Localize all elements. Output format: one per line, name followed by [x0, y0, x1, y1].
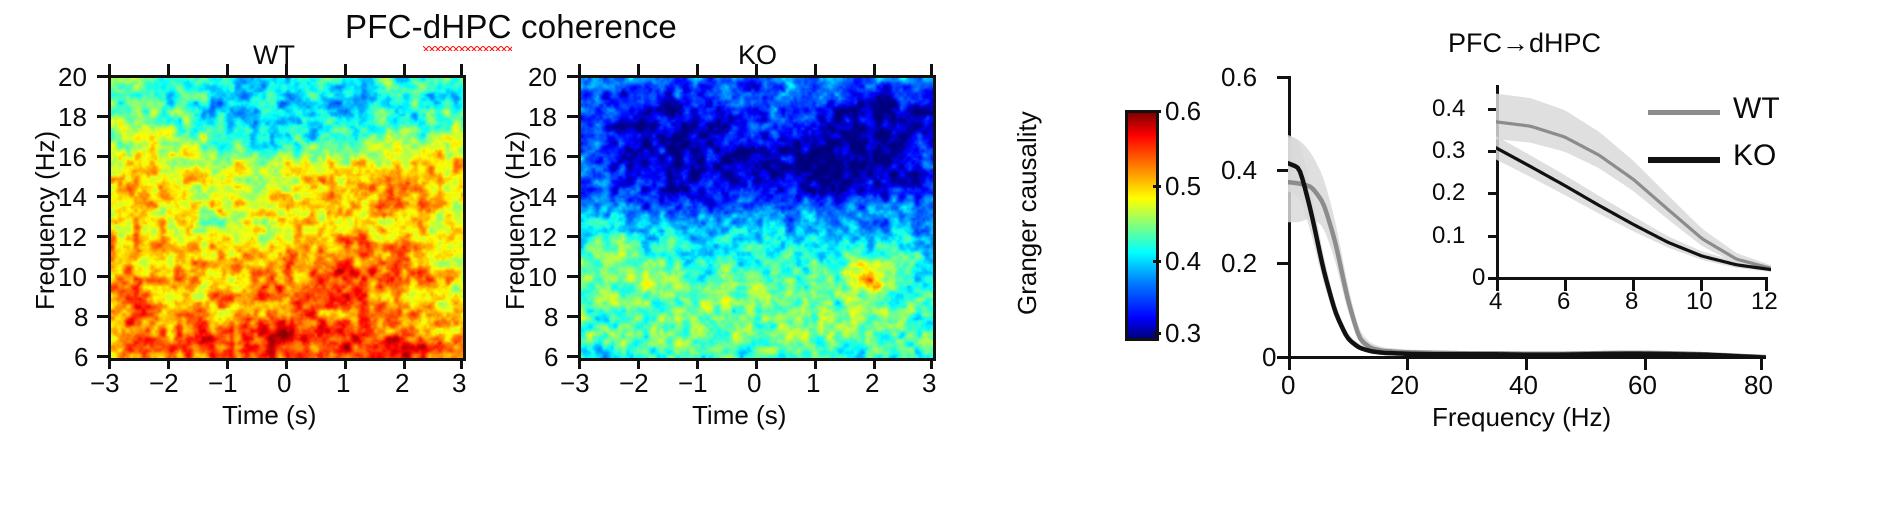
wt-ytick-mark-20 — [97, 75, 108, 78]
wt-ytick-mark-16 — [97, 155, 108, 158]
granger-xtick-0: 0 — [1281, 370, 1295, 401]
legend-swatch-ko — [1648, 157, 1720, 163]
inset-ytick-04: 0.4 — [1432, 95, 1465, 123]
ko-ytick-16: 16 — [528, 142, 557, 173]
wt-xtick-top-3 — [226, 64, 229, 75]
granger-ytick-0: 0 — [1262, 342, 1276, 373]
wt-xtick-top-2 — [167, 64, 170, 75]
figure-title-part2: coherence — [512, 8, 677, 45]
wt-ytick-mark-10 — [97, 275, 108, 278]
inset-ytick-mark-0 — [1488, 277, 1496, 280]
wt-ytick-8: 8 — [74, 302, 88, 333]
ko-heatmap-canvas — [581, 78, 933, 358]
legend-swatch-wt — [1648, 110, 1720, 115]
ko-xtick-neg1: −1 — [678, 368, 708, 399]
inset-ytick-mark-01 — [1488, 235, 1496, 238]
wt-coherence-heatmap — [108, 75, 466, 361]
ko-y-axis-label: Frequency (Hz) — [500, 131, 531, 310]
granger-xtick-60: 60 — [1628, 370, 1657, 401]
ko-ytick-mark-10 — [567, 275, 578, 278]
granger-ytick-04: 0.4 — [1221, 155, 1257, 186]
ko-ytick-12: 12 — [528, 222, 557, 253]
ko-xtick-top-1 — [578, 64, 581, 75]
granger-x-axis-label: Frequency (Hz) — [1432, 402, 1611, 433]
wt-xtick-top-7 — [460, 64, 463, 75]
granger-xtick-mark-80 — [1760, 359, 1763, 370]
colorbar-tick-03 — [1153, 332, 1161, 335]
ko-xtick-top-4 — [755, 64, 758, 75]
figure-title-part1: PFC- — [345, 8, 423, 45]
ko-ytick-6: 6 — [544, 342, 558, 373]
ko-ytick-mark-6 — [567, 355, 578, 358]
wt-ytick-mark-18 — [97, 115, 108, 118]
wt-heatmap-canvas — [111, 78, 463, 358]
wt-ytick-16: 16 — [58, 142, 87, 173]
wt-panel-title: WT — [253, 40, 295, 71]
inset-xtick-12: 12 — [1751, 288, 1778, 316]
ko-ytick-mark-16 — [567, 155, 578, 158]
granger-ytick-mark-06 — [1277, 76, 1288, 79]
ko-ytick-10: 10 — [528, 262, 557, 293]
wt-y-axis-label: Frequency (Hz) — [30, 131, 61, 310]
inset-curves — [1496, 85, 1771, 280]
wt-ytick-18: 18 — [58, 102, 87, 133]
wt-xtick-top-5 — [344, 64, 347, 75]
wt-ytick-mark-12 — [97, 235, 108, 238]
ko-xtick-top-2 — [637, 64, 640, 75]
figure-title: PFC-dHPC coherence — [345, 8, 677, 46]
wt-ytick-mark-8 — [97, 315, 108, 318]
granger-xtick-mark-40 — [1525, 359, 1528, 370]
wt-xtick-neg2: −2 — [149, 368, 179, 399]
colorbar-label-03: 0.3 — [1165, 318, 1201, 349]
granger-y-axis-label: Granger causality — [1012, 111, 1043, 315]
wt-ytick-20: 20 — [58, 62, 87, 93]
wt-x-axis-label: Time (s) — [222, 400, 316, 431]
wt-xtick-0: 0 — [277, 368, 291, 399]
ko-xtick-top-7 — [930, 64, 933, 75]
granger-xtick-mark-20 — [1406, 359, 1409, 370]
ko-xtick-top-5 — [814, 64, 817, 75]
ko-xtick-2: 2 — [865, 368, 879, 399]
ko-ytick-20: 20 — [528, 62, 557, 93]
wt-xtick-top-1 — [108, 64, 111, 75]
wt-xtick-3: 3 — [452, 368, 466, 399]
ko-xtick-0: 0 — [747, 368, 761, 399]
inset-ytick-01: 0.1 — [1432, 222, 1465, 250]
inset-xtick-8: 8 — [1625, 288, 1638, 316]
wt-ytick-mark-14 — [97, 195, 108, 198]
inset-xtick-4: 4 — [1489, 288, 1502, 316]
ko-xtick-top-6 — [873, 64, 876, 75]
ko-ytick-mark-20 — [567, 75, 578, 78]
granger-ytick-mark-0 — [1277, 356, 1288, 359]
inset-ytick-mark-04 — [1488, 108, 1496, 111]
colorbar-tick-05 — [1153, 185, 1161, 188]
wt-ytick-6: 6 — [74, 342, 88, 373]
ko-ytick-14: 14 — [528, 182, 557, 213]
ko-ytick-18: 18 — [528, 102, 557, 133]
ko-ytick-mark-14 — [567, 195, 578, 198]
wt-xtick-top-4 — [285, 64, 288, 75]
colorbar-label-05: 0.5 — [1165, 171, 1201, 202]
granger-xtick-80: 80 — [1744, 370, 1773, 401]
ko-ytick-mark-8 — [567, 315, 578, 318]
legend-label-wt: WT — [1733, 92, 1780, 126]
figure-title-misspelled-word: dHPC — [423, 8, 512, 46]
legend-label-ko: KO — [1733, 139, 1776, 173]
granger-xtick-40: 40 — [1509, 370, 1538, 401]
granger-title: PFC→dHPC — [1448, 28, 1601, 59]
ko-ytick-8: 8 — [544, 302, 558, 333]
colorbar-tick-06 — [1153, 110, 1161, 113]
ko-xtick-1: 1 — [806, 368, 820, 399]
wt-xtick-top-6 — [403, 64, 406, 75]
ko-xtick-neg3: −3 — [560, 368, 590, 399]
wt-ytick-12: 12 — [58, 222, 87, 253]
granger-ytick-02: 0.2 — [1221, 248, 1257, 279]
ko-ytick-mark-18 — [567, 115, 578, 118]
inset-xtick-6: 6 — [1557, 288, 1570, 316]
wt-xtick-neg3: −3 — [90, 368, 120, 399]
ko-coherence-heatmap — [578, 75, 936, 361]
inset-ytick-mark-03 — [1488, 150, 1496, 153]
granger-xtick-20: 20 — [1390, 370, 1419, 401]
colorbar-tick-04 — [1153, 260, 1161, 263]
colorbar-gradient — [1128, 113, 1156, 338]
wt-ytick-14: 14 — [58, 182, 87, 213]
wt-xtick-1: 1 — [336, 368, 350, 399]
inset-ytick-0: 0 — [1472, 264, 1485, 292]
inset-ytick-mark-02 — [1488, 192, 1496, 195]
wt-ytick-10: 10 — [58, 262, 87, 293]
inset-ytick-03: 0.3 — [1432, 137, 1465, 165]
wt-xtick-neg1: −1 — [208, 368, 238, 399]
coherence-colorbar — [1125, 110, 1159, 341]
granger-ytick-mark-02 — [1277, 262, 1288, 265]
ko-xtick-neg2: −2 — [619, 368, 649, 399]
granger-ytick-06: 0.6 — [1221, 62, 1257, 93]
ko-ytick-mark-12 — [567, 235, 578, 238]
granger-xtick-mark-0 — [1288, 359, 1291, 370]
granger-xtick-mark-60 — [1644, 359, 1647, 370]
colorbar-label-06: 0.6 — [1165, 96, 1201, 127]
confidence-band-wt — [1496, 94, 1771, 271]
ko-x-axis-label: Time (s) — [692, 400, 786, 431]
colorbar-label-04: 0.4 — [1165, 246, 1201, 277]
wt-ytick-mark-6 — [97, 355, 108, 358]
granger-ytick-mark-04 — [1277, 169, 1288, 172]
figure-canvas: PFC-dHPC coherence WT Frequency (Hz) 20 … — [0, 0, 1890, 520]
ko-xtick-3: 3 — [922, 368, 936, 399]
inset-ytick-02: 0.2 — [1432, 179, 1465, 207]
inset-xtick-10: 10 — [1686, 288, 1713, 316]
ko-xtick-top-3 — [696, 64, 699, 75]
wt-xtick-2: 2 — [395, 368, 409, 399]
